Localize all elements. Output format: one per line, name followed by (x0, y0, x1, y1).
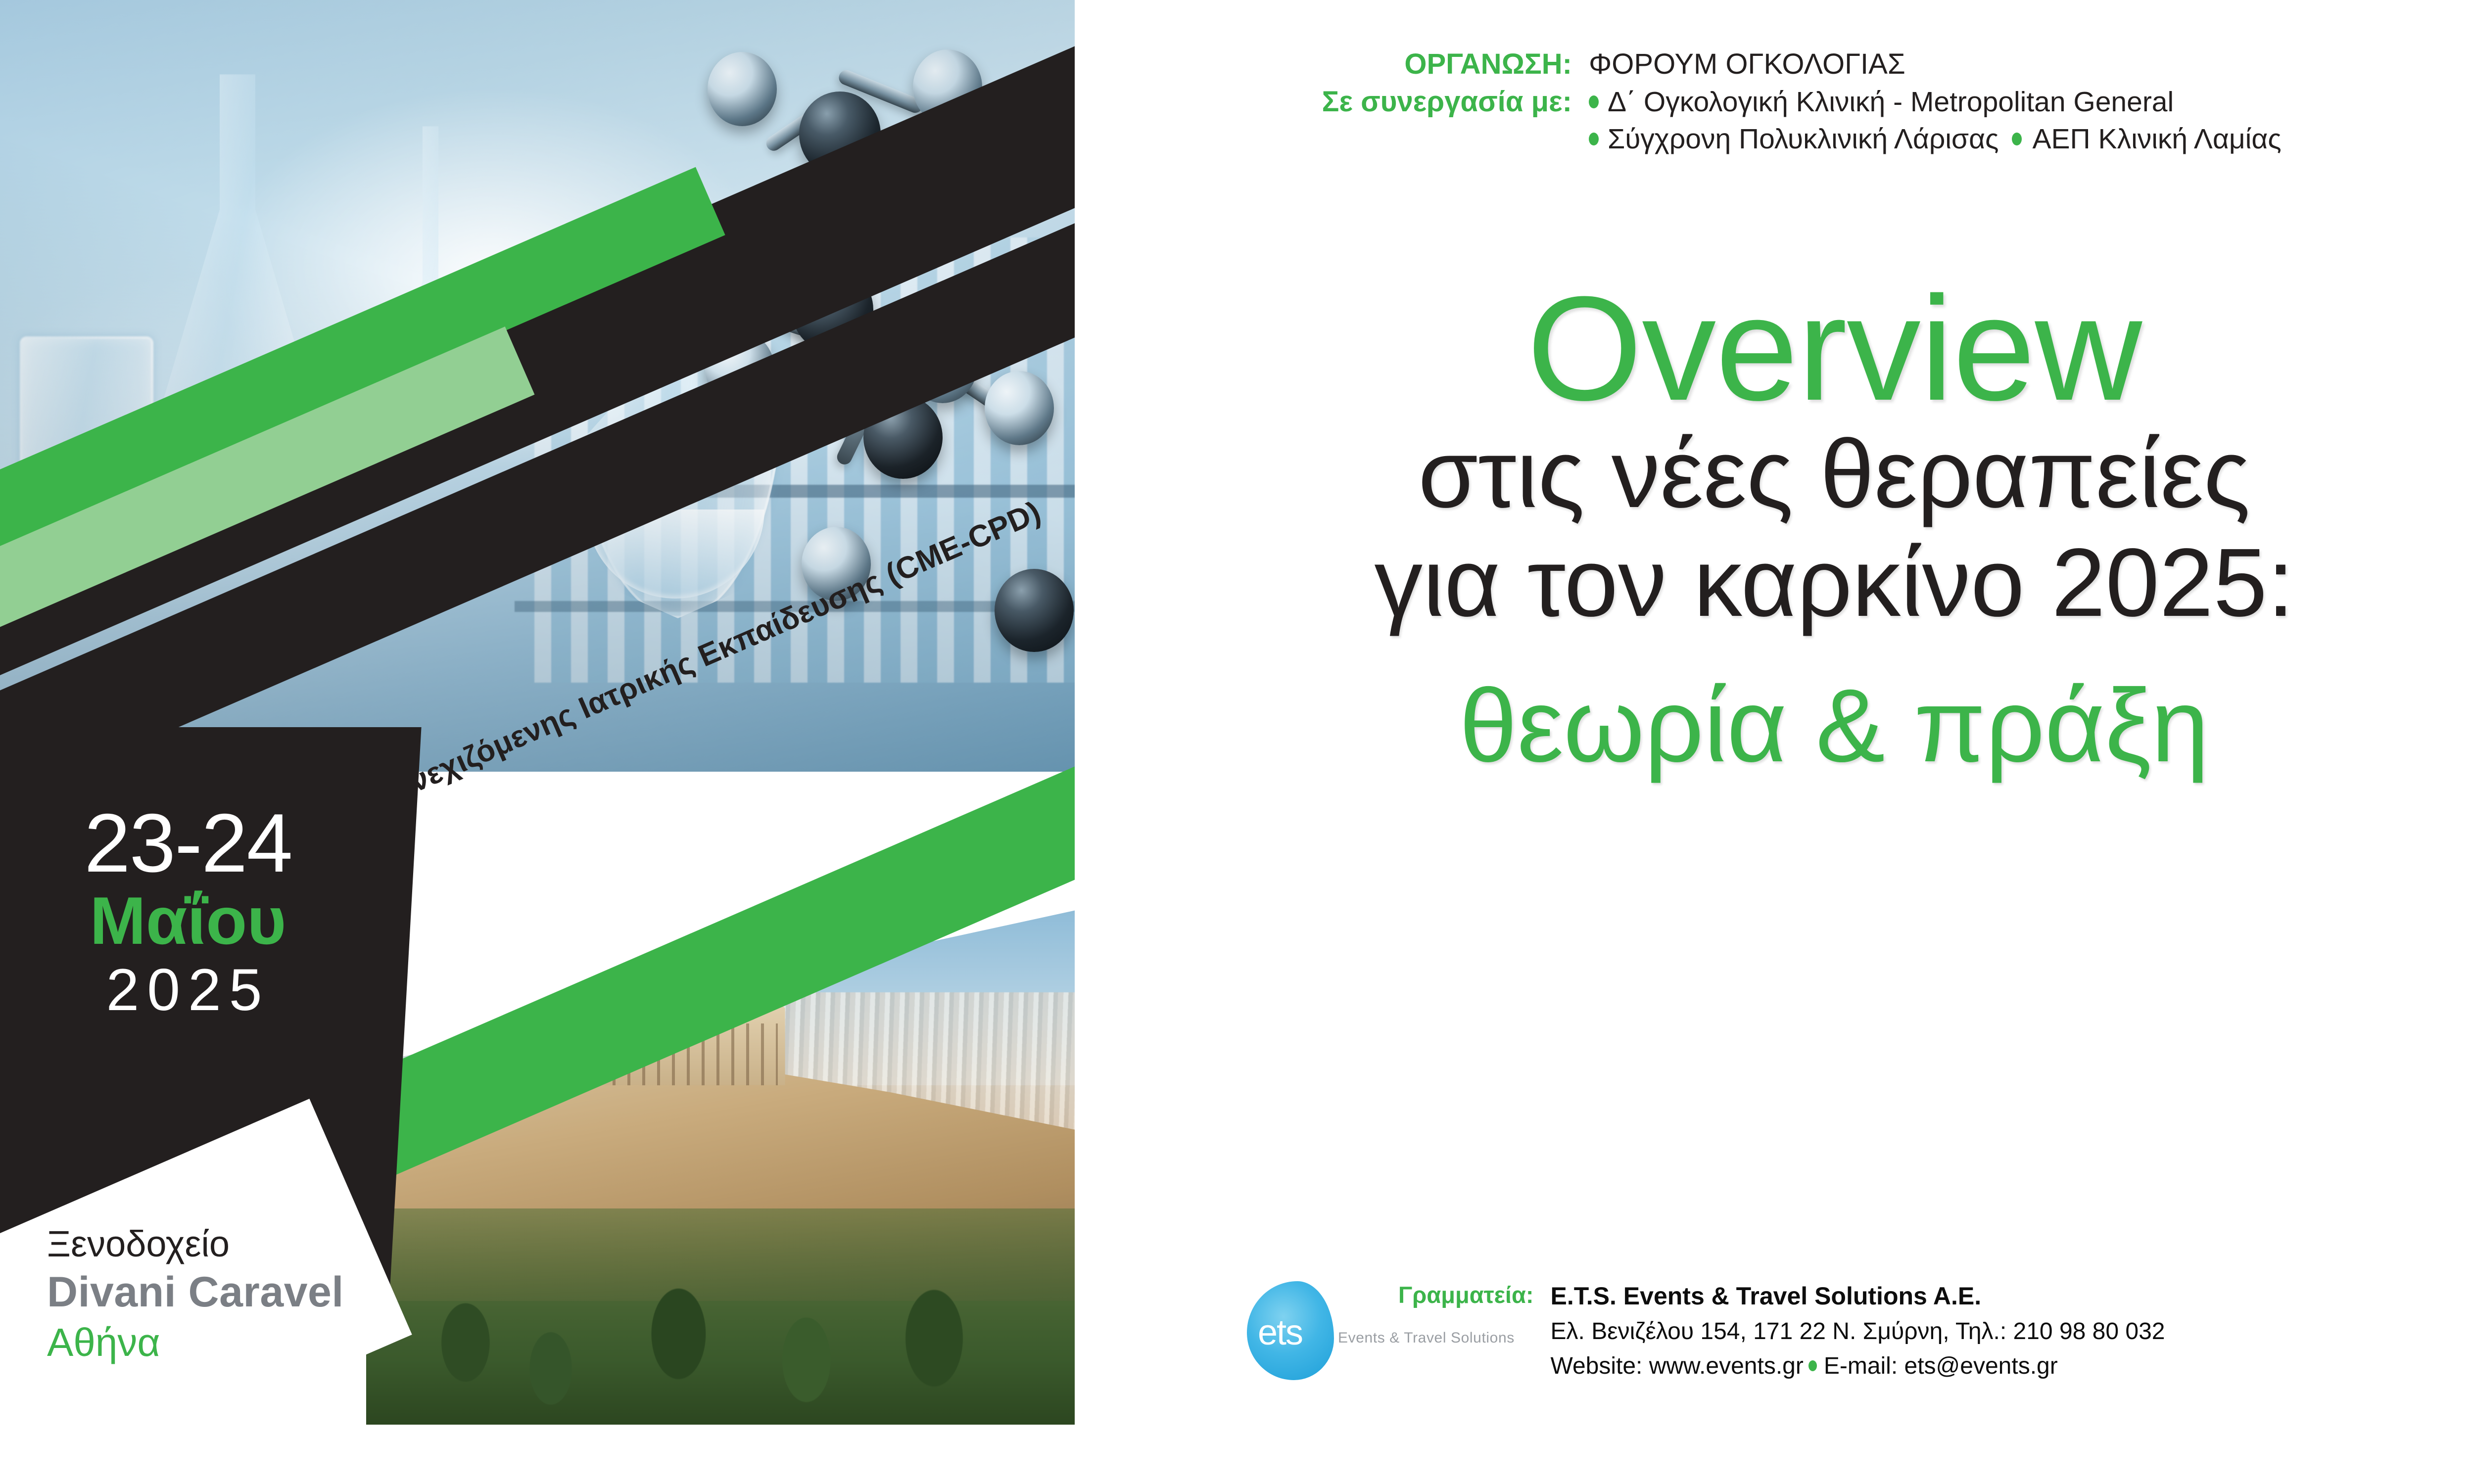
date-month: Μαΐου (15, 884, 361, 957)
organizers-block: ΟΡΓΑΝΩΣΗ: ΦΟΡΟΥΜ ΟΓΚΟΛΟΓΙΑΣ Σε συνεργασί… (1312, 47, 2474, 160)
date-year: 2025 (15, 957, 361, 1022)
venue-name: Divani Caravel (47, 1266, 542, 1318)
venue-kind: Ξενοδοχείο (47, 1222, 542, 1266)
right-content-panel: ΟΡΓΑΝΩΣΗ: ΦΟΡΟΥΜ ΟΓΚΟΛΟΓΙΑΣ Σε συνεργασί… (1075, 0, 2474, 1484)
left-visual-panel: Θα χορηγηθούν Μόρια Συνεχιζόμενης Ιατρικ… (0, 0, 1075, 1425)
organizer-row: ΟΡΓΑΝΩΣΗ: ΦΟΡΟΥΜ ΟΓΚΟΛΟΓΙΑΣ (1312, 47, 2474, 81)
list-item: Δ΄ Ογκολογική Κλινική - Metropolitan Gen… (1589, 85, 2282, 119)
venue-city: Αθήνα (47, 1318, 542, 1367)
secretariat-contact: Website: www.events.grE-mail: ets@events… (1551, 1349, 2165, 1384)
secretariat-email[interactable]: E-mail: ets@events.gr (1824, 1353, 2058, 1379)
bullet-dot-icon (1589, 95, 1599, 108)
collaborator-1: Δ΄ Ογκολογική Κλινική - Metropolitan Gen… (1608, 86, 2174, 118)
secretariat-address: Ελ. Βενιζέλου 154, 171 22 Ν. Σμύρνη, Τηλ… (1551, 1314, 2165, 1349)
title-line-2: στις νέες θεραπείες (1075, 419, 2474, 528)
ets-logo-word: ets (1258, 1315, 1302, 1350)
list-item: Σύγχρονη Πολυκλινική ΛάρισαςΑΕΠ Κλινική … (1589, 122, 2282, 156)
ets-logo: ets Events & Travel Solutions (1238, 1278, 1391, 1382)
date-block: 23-24 Μαΐου 2025 (15, 801, 361, 1022)
collaborator-2: Σύγχρονη Πολυκλινική Λάρισας (1608, 123, 1999, 155)
secretariat-website[interactable]: Website: www.events.gr (1551, 1353, 1804, 1379)
collaboration-row: Σε συνεργασία με: Δ΄ Ογκολογική Κλινική … (1312, 85, 2474, 156)
bullet-dot-icon (2012, 133, 2022, 145)
title-line-overview: Overview (1075, 277, 2474, 419)
title-line-3: για τον καρκίνο 2025: (1075, 528, 2474, 637)
organizer-value: ΦΟΡΟΥΜ ΟΓΚΟΛΟΓΙΑΣ (1589, 47, 1905, 81)
collaborator-3: ΑΕΠ Κλινική Λαμίας (2033, 123, 2282, 155)
collaboration-label: Σε συνεργασία με: (1312, 85, 1589, 119)
event-title: Overview στις νέες θεραπείες για τον καρ… (1075, 277, 2474, 784)
venue-block: Ξενοδοχείο Divani Caravel Αθήνα (47, 1222, 542, 1367)
secretariat-label: Γραμματεία: (1398, 1282, 1534, 1308)
bullet-dot-icon (1589, 133, 1599, 145)
bottom-white-strip (0, 1425, 1075, 1484)
secretariat-company: E.T.S. Events & Travel Solutions A.E. (1551, 1278, 2165, 1314)
bullet-dot-icon (1808, 1360, 1817, 1371)
title-line-4: θεωρία & πράξη (1075, 667, 2474, 784)
organizer-label: ΟΡΓΑΝΩΣΗ: (1312, 47, 1589, 81)
collaborators-list: Δ΄ Ογκολογική Κλινική - Metropolitan Gen… (1589, 85, 2282, 156)
date-range: 23-24 (15, 801, 361, 884)
secretariat-details: E.T.S. Events & Travel Solutions A.E. Ελ… (1551, 1278, 2165, 1384)
ets-logo-tagline: Events & Travel Solutions (1338, 1330, 1515, 1346)
conference-banner: Θα χορηγηθούν Μόρια Συνεχιζόμενης Ιατρικ… (0, 0, 2474, 1484)
secretariat-block: ets Events & Travel Solutions Γραμματεία… (1238, 1271, 2165, 1384)
